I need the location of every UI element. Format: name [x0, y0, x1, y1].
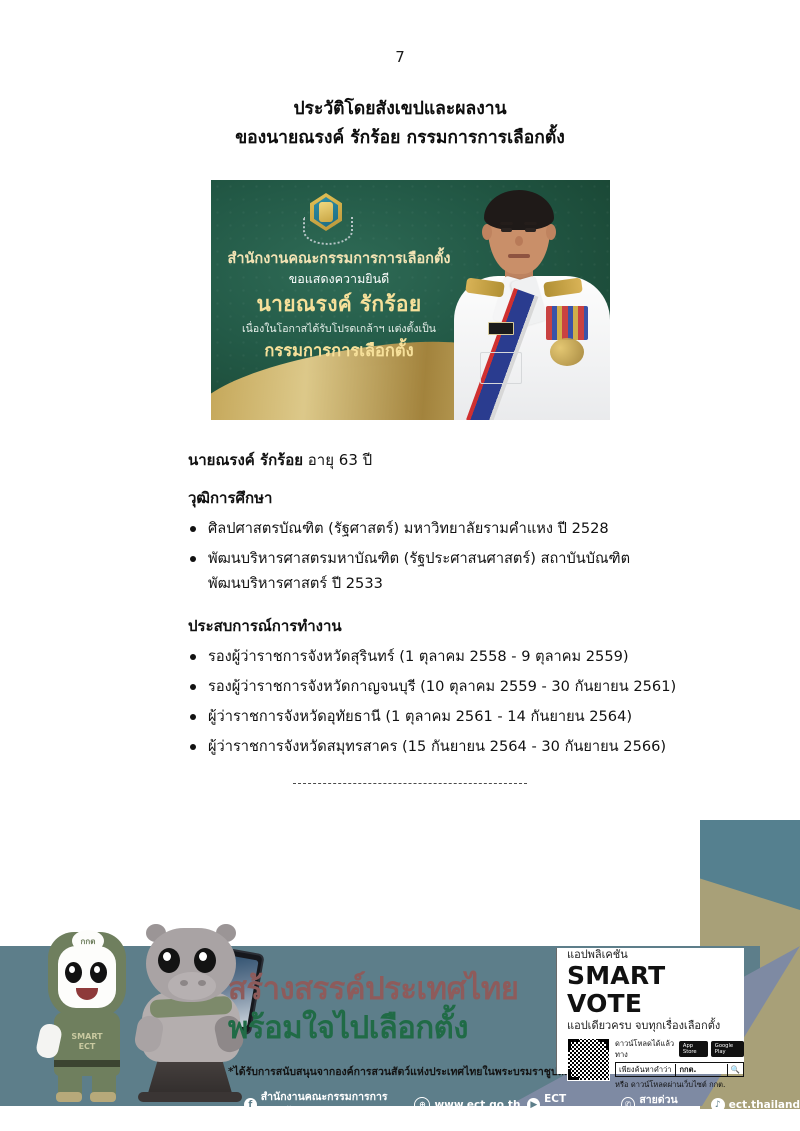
banner-person-name: นายณรงค์ รักร้อย	[225, 288, 453, 320]
list-item: รองผู้ว่าราชการจังหวัดกาญจนบุรี (10 ตุลา…	[188, 674, 728, 699]
slogan-line-1: สร้างสรรค์ประเทศไทย	[228, 970, 518, 1008]
profile-name-line: นายณรงค์ รักร้อย อายุ 63 ปี	[188, 448, 728, 472]
list-item: ศิลปศาสตรบัณฑิต (รัฐศาสตร์) มหาวิทยาลัยร…	[188, 516, 728, 541]
mascot-shirt-text: SMART ECT	[54, 1032, 120, 1052]
mascot-belt	[54, 1060, 120, 1067]
portrait-ear-left	[482, 224, 492, 240]
experience-heading: ประสบการณ์การทำงาน	[188, 614, 728, 638]
portrait-medal-ribbons	[546, 306, 588, 340]
mascot-shoe-right	[90, 1092, 116, 1102]
portrait-medal	[550, 338, 584, 366]
portrait-eye-right	[525, 228, 536, 232]
download-line: ดาวน์โหลดได้แล้ว ทาง App Store Google Pl…	[615, 1038, 744, 1060]
education-heading: วุฒิการศึกษา	[188, 486, 728, 510]
banner-congratulations: ขอแสดงความยินดี	[225, 269, 453, 288]
hippo-eye-left	[158, 948, 180, 973]
smart-vote-app-label: แอปพลิเคชัน	[567, 948, 744, 962]
footer-banner: กกต SMART ECT	[0, 820, 800, 1131]
list-item: ผู้ว่าราชการจังหวัดสมุทรสาคร (15 กันยายน…	[188, 734, 728, 759]
hippo-nostril-left	[180, 980, 188, 986]
portrait-pocket	[480, 352, 522, 384]
banner-position: กรรมการการเลือกตั้ง	[225, 338, 453, 363]
portrait-hair	[484, 190, 554, 230]
hippo-snout	[168, 972, 216, 1000]
education-list: ศิลปศาสตรบัณฑิต (รัฐศาสตร์) มหาวิทยาลัยร…	[188, 516, 728, 596]
footer-slogan: สร้างสรรค์ประเทศไทย พร้อมใจไปเลือกตั้ง	[228, 970, 518, 1048]
experience-list: รองผู้ว่าราชการจังหวัดสุรินทร์ (1 ตุลาคม…	[188, 644, 728, 759]
search-input[interactable]: กกต.	[675, 1064, 728, 1076]
mascot-shirt-line-2: ECT	[54, 1042, 120, 1052]
page-title-line-1: ประวัติโดยสังเขปและผลงาน	[0, 95, 800, 124]
qr-code-icon[interactable]	[567, 1038, 610, 1081]
smart-vote-card: แอปพลิเคชัน SMART VOTE แอปเดียวครบ จบทุก…	[556, 948, 744, 1074]
list-item: พัฒนบริหารศาสตรมหาบัณฑิต (รัฐประศาสนศาสต…	[188, 546, 728, 596]
portrait-photo	[450, 180, 610, 420]
app-store-badge[interactable]: App Store	[679, 1041, 708, 1057]
search-hint-bar: เพียงค้นหาคำว่า กกต. 🔍	[615, 1062, 744, 1077]
mascot-shoe-left	[56, 1092, 82, 1102]
smart-vote-download-info: ดาวน์โหลดได้แล้ว ทาง App Store Google Pl…	[615, 1038, 744, 1091]
sponsor-credit-note: *ได้รับการสนับสนุนจากองค์การสวนสัตว์แห่ง…	[228, 1063, 578, 1080]
ect-emblem-icon	[303, 193, 349, 245]
smart-vote-title: SMART VOTE	[567, 962, 744, 1018]
slogan-line-2: พร้อมใจไปเลือกตั้ง	[228, 1008, 518, 1048]
portrait-brow-left	[500, 222, 513, 225]
mascot-shirt-line-1: SMART	[54, 1032, 120, 1042]
banner-organization: สำนักงานคณะกรรมการการเลือกตั้ง	[225, 250, 453, 269]
profile-name: นายณรงค์ รักร้อย	[188, 451, 303, 469]
emblem-chain	[303, 217, 353, 245]
list-item: ผู้ว่าราชการจังหวัดอุทัยธานี (1 ตุลาคม 2…	[188, 704, 728, 729]
banner-text-block: สำนักงานคณะกรรมการการเลือกตั้ง ขอแสดงควา…	[225, 250, 453, 363]
page-number: 7	[0, 48, 800, 66]
portrait-eye-left	[501, 228, 512, 232]
mascot-cap: กกต	[72, 930, 104, 952]
portrait-brow-right	[524, 222, 537, 225]
list-item: รองผู้ว่าราชการจังหวัดสุรินทร์ (1 ตุลาคม…	[188, 644, 728, 669]
mascot-eye-right	[90, 962, 107, 983]
ect-mascot: กกต SMART ECT	[34, 932, 138, 1102]
section-divider	[293, 783, 527, 784]
page-title: ประวัติโดยสังเขปและผลงาน ของนายณรงค์ รัก…	[0, 95, 800, 153]
download-label: ดาวน์โหลดได้แล้ว ทาง	[615, 1038, 676, 1060]
portrait-name-badge	[488, 322, 514, 335]
profile-content: นายณรงค์ รักร้อย อายุ 63 ปี วุฒิการศึกษา…	[188, 448, 728, 777]
search-hint-label: เพียงค้นหาคำว่า	[616, 1064, 675, 1076]
banner-reason: เนื่องในโอกาสได้รับโปรดเกล้าฯ แต่งตั้งเป…	[225, 320, 453, 338]
smart-vote-subtitle: แอปเดียวครบ จบทุกเรื่องเลือกตั้ง	[567, 1018, 744, 1034]
portrait-nose	[515, 236, 523, 246]
page-title-line-2: ของนายณรงค์ รักร้อย กรรมการการเลือกตั้ง	[0, 124, 800, 153]
mascot-eye-left	[65, 962, 82, 983]
portrait-ear-right	[546, 224, 556, 240]
congratulations-banner-image: สำนักงานคณะกรรมการการเลือกตั้ง ขอแสดงควา…	[211, 180, 610, 420]
smart-vote-download-row: ดาวน์โหลดได้แล้ว ทาง App Store Google Pl…	[567, 1038, 744, 1091]
profile-age: อายุ 63 ปี	[308, 451, 372, 469]
hippo-pedestal-base	[138, 1092, 242, 1102]
search-icon[interactable]: 🔍	[728, 1065, 743, 1074]
google-play-badge[interactable]: Google Play	[711, 1041, 744, 1057]
hippo-eye-right	[194, 948, 216, 973]
footer-bottom-strip	[0, 1109, 800, 1131]
portrait-mouth	[508, 254, 530, 258]
hippo-nostril-right	[198, 980, 206, 986]
